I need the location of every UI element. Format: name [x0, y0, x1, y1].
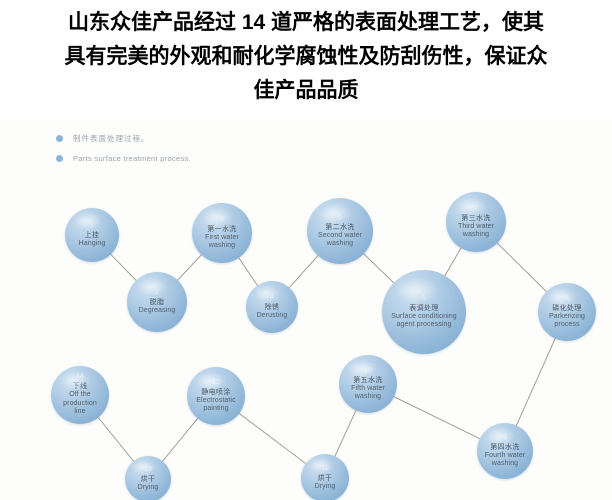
node-number: 7 [474, 205, 478, 213]
process-node-13[interactable]: 13烘干Drying [125, 456, 171, 500]
connector-line [110, 254, 137, 282]
connector-line [497, 242, 547, 292]
node-label-cn: 脱脂 [150, 298, 165, 307]
process-node-14[interactable]: 14下线Off theproductionline [51, 366, 109, 424]
process-node-2[interactable]: 2脱脂Degreasing [127, 272, 187, 332]
node-number: 13 [144, 466, 152, 474]
node-label-cn: 表调处理 [409, 304, 439, 313]
node-label-cn: 除锈 [265, 303, 280, 312]
process-node-1[interactable]: 1上挂Hanging [65, 208, 119, 262]
connector-line [363, 253, 394, 283]
node-label-cn: 第五水洗 [353, 376, 383, 385]
node-label-en: Third water [455, 223, 497, 232]
node-label-en: production [60, 400, 100, 409]
node-label-cn: 烘干 [318, 474, 333, 483]
process-node-7[interactable]: 7第三水洗Third waterwashing [446, 192, 506, 252]
page-root: 山东众佳产品经过 14 道严格的表面处理工艺，使其 具有完美的外观和耐化学腐蚀性… [0, 0, 612, 500]
node-label-en: Fourth water [482, 452, 529, 461]
node-label-cn: 磷化处理 [552, 304, 582, 313]
node-label-en: painting [200, 405, 231, 414]
process-node-9[interactable]: 9第四水洗Fourth waterwashing [477, 423, 533, 479]
node-label-en: agent processing [394, 321, 455, 330]
node-label-en: process [551, 321, 582, 330]
node-number: 12 [212, 379, 220, 387]
process-node-6[interactable]: 6表调处理Surface conditioningagent processin… [382, 270, 466, 354]
node-label-en: washing [352, 393, 384, 402]
node-label-en: Degreasing [136, 307, 179, 316]
node-label-en: Parkerizing [546, 313, 588, 322]
connector-line [335, 409, 357, 457]
node-label-en: Electrostatic [193, 397, 238, 406]
title-line-1: 山东众佳产品经过 14 道严格的表面处理工艺，使其 [18, 6, 594, 40]
connector-line [516, 338, 556, 427]
node-label-cn: 静电喷涂 [201, 388, 231, 397]
node-number: 5 [338, 214, 342, 222]
node-number: 4 [270, 294, 274, 302]
process-node-12[interactable]: 12静电喷涂Electrostaticpainting [187, 367, 245, 425]
node-label-cn: 第二水洗 [325, 223, 355, 232]
connector-line [162, 418, 198, 462]
node-label-en: Off the [66, 391, 94, 400]
process-node-11[interactable]: 11烘干Drying [301, 454, 349, 500]
node-label-en: Drying [312, 483, 339, 492]
node-label-en: Second water [315, 232, 365, 241]
node-label-en: Drying [135, 484, 162, 493]
process-node-3[interactable]: 3第一水洗First waterwashing [192, 203, 252, 263]
node-label-cn: 第四水洗 [490, 443, 520, 452]
node-number: 9 [503, 434, 507, 442]
title-line-3: 佳产品品质 [18, 74, 594, 108]
node-label-cn: 上挂 [85, 231, 100, 240]
process-node-8[interactable]: 8磷化处理Parkerizingprocess [538, 283, 596, 341]
page-title: 山东众佳产品经过 14 道严格的表面处理工艺，使其 具有完美的外观和耐化学腐蚀性… [0, 6, 612, 108]
connector-line [98, 417, 135, 462]
node-label-en: First water [202, 234, 242, 243]
node-number: 11 [321, 465, 328, 473]
node-label-en: Surface conditioning [388, 313, 459, 322]
node-number: 8 [565, 295, 569, 303]
node-label-en: Derusting [254, 312, 291, 321]
node-label-en: line [71, 408, 88, 417]
process-node-5[interactable]: 5第二水洗Second waterwashing [307, 198, 373, 264]
connector-line [177, 254, 202, 281]
node-label-cn: 第一水洗 [207, 225, 237, 234]
node-number: 14 [76, 373, 84, 381]
connector-line [445, 247, 462, 276]
node-label-en: washing [324, 240, 356, 249]
connector-line [393, 396, 481, 439]
process-node-10[interactable]: 10第五水洗Fifth waterwashing [339, 355, 397, 413]
node-label-en: Hanging [76, 240, 109, 249]
process-flow-diagram: 制件表面处理过程。 Parts surface treatment proces… [0, 120, 612, 500]
node-label-cn: 下线 [73, 382, 88, 391]
node-number: 10 [364, 367, 372, 375]
node-number: 3 [220, 216, 224, 224]
node-label-en: washing [460, 231, 492, 240]
node-number: 2 [155, 289, 159, 297]
connector-line [238, 257, 258, 286]
title-line-2: 具有完美的外观和耐化学腐蚀性及防刮伤性，保证众 [18, 40, 594, 74]
connector-line [289, 255, 319, 289]
node-number: 6 [422, 295, 426, 303]
node-number: 1 [90, 222, 94, 230]
process-node-4[interactable]: 4除锈Derusting [246, 281, 298, 333]
node-label-en: washing [489, 460, 521, 469]
node-label-en: Fifth water [348, 385, 388, 394]
node-label-en: washing [206, 242, 238, 251]
connector-line [238, 413, 306, 464]
node-label-cn: 烘干 [141, 475, 156, 484]
node-label-cn: 第三水洗 [461, 214, 491, 223]
